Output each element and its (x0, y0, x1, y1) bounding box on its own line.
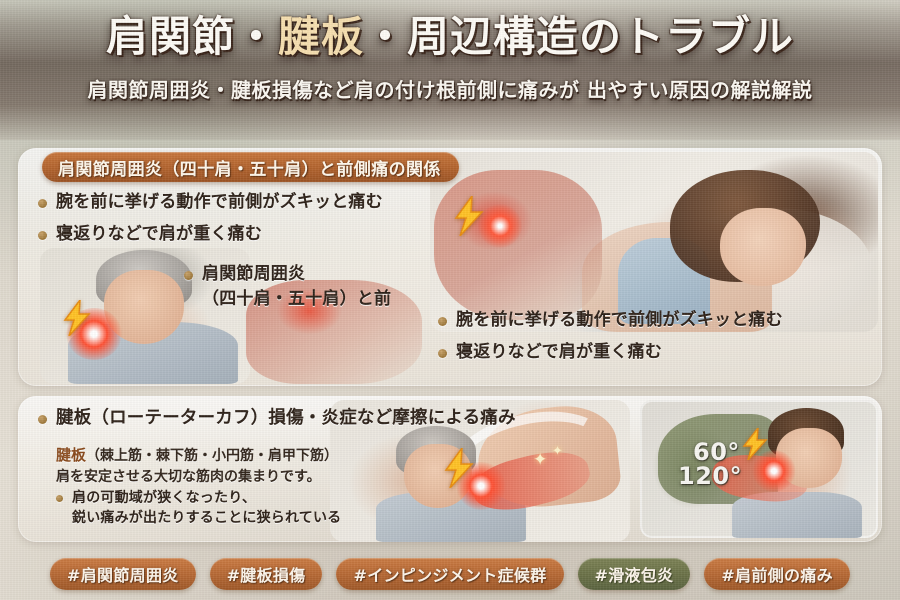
tag-bursitis[interactable]: #滑液包炎 (578, 558, 691, 590)
tag-impingement-syndrome[interactable]: #インピンジメント症候群 (336, 558, 563, 590)
bullet-dot-icon (38, 199, 47, 208)
bullet-dot-icon (184, 271, 193, 280)
lightning-bolt-icon (442, 448, 476, 488)
page-title-part2: 腱板 (278, 12, 364, 61)
angle-inset-illustration: 60° 120° (640, 400, 878, 538)
shoulder-anatomy-overlay (434, 170, 602, 320)
bullet-dot-icon (438, 317, 447, 326)
bullet-dot-icon (438, 349, 447, 358)
upper-right-bullet-2: 寝返りなどで肩が重く痛む (438, 340, 662, 365)
page-title-part1: 肩関節・ (106, 12, 278, 61)
sleeping-woman-illustration (430, 152, 878, 332)
lightning-bolt-icon (742, 428, 768, 460)
lower-section-heading-row: 腱板（ローテーターカフ）損傷・炎症など摩擦による痛み (38, 406, 516, 431)
header: 肩関節・腱板・周辺構造のトラブル 肩関節周囲炎・腱板損傷など肩の付け根前側に痛み… (0, 0, 900, 140)
tendon-description: 腱板（棘上筋・棘下筋・小円筋・肩甲下筋） 肩を安定させる大切な筋肉の集まりです。 (56, 444, 338, 487)
lower-bullet-1: 肩の可動域が狭くなったり、 鋭い痛みが出たりすることに狭られている (56, 488, 341, 529)
upper-right-bullet-2-label: 寝返りなどで肩が重く痛む (456, 340, 662, 365)
tag-anterior-shoulder-pain[interactable]: #肩前側の痛み (704, 558, 850, 590)
lower-section-heading: 腱板（ローテーターカフ）損傷・炎症など摩擦による痛み (56, 406, 516, 431)
page-subtitle: 肩関節周囲炎・腱板損傷など肩の付け根前側に痛みが 出やすい原因の解説解説 (0, 76, 900, 104)
lightning-bolt-icon (62, 300, 92, 336)
sparkle-icon: ✦ (552, 444, 563, 459)
angle-label-120: 120° (678, 462, 742, 490)
tendon-description-rest: （棘上筋・棘下筋・小円筋・肩甲下筋） 肩を安定させる大切な筋肉の集まりです。 (56, 448, 338, 485)
upper-right-bullet-1-label: 腕を前に挙げる動作で前側がズキッと痛む (456, 308, 783, 333)
page-title-part3: ・周辺構造のトラブル (364, 12, 794, 61)
tag-shoulder-periarthritis[interactable]: #肩関節周囲炎 (50, 558, 196, 590)
upper-section-heading: 肩関節周囲炎（四十肩・五十肩）と前側痛の関係 (42, 152, 459, 182)
bullet-dot-icon (38, 231, 47, 240)
tag-rotator-cuff-injury[interactable]: #腱板損傷 (210, 558, 323, 590)
upper-right-bullet-1: 腕を前に挙げる動作で前側がズキッと痛む (438, 308, 783, 333)
upper-mid-note: 肩関節周囲炎 （四十肩・五十肩）と前 (184, 262, 391, 311)
upper-mid-note-label: 肩関節周囲炎 （四十肩・五十肩）と前 (202, 262, 391, 311)
page-title: 肩関節・腱板・周辺構造のトラブル (0, 12, 900, 62)
tag-row: #肩関節周囲炎 #腱板損傷 #インピンジメント症候群 #滑液包炎 #肩前側の痛み (0, 558, 900, 590)
lightning-bolt-icon (452, 196, 486, 236)
upper-bullet-2-label: 寝返りなどで肩が重く痛む (56, 222, 262, 247)
bullet-dot-icon (38, 415, 47, 424)
sparkle-icon: ✦ (533, 450, 547, 470)
infographic-page: 肩関節・腱板・周辺構造のトラブル 肩関節周囲炎・腱板損傷など肩の付け根前側に痛み… (0, 0, 900, 600)
lower-bullet-1-label: 肩の可動域が狭くなったり、 鋭い痛みが出たりすることに狭られている (72, 488, 341, 529)
upper-bullet-2: 寝返りなどで肩が重く痛む (38, 222, 262, 247)
upper-bullet-1: 腕を前に挙げる動作で前側がズキッと痛む (38, 190, 383, 215)
face-shape (720, 208, 806, 286)
tendon-description-lead: 腱板 (56, 446, 86, 464)
bullet-dot-icon (56, 495, 63, 502)
upper-bullet-1-label: 腕を前に挙げる動作で前側がズキッと痛む (56, 190, 383, 215)
